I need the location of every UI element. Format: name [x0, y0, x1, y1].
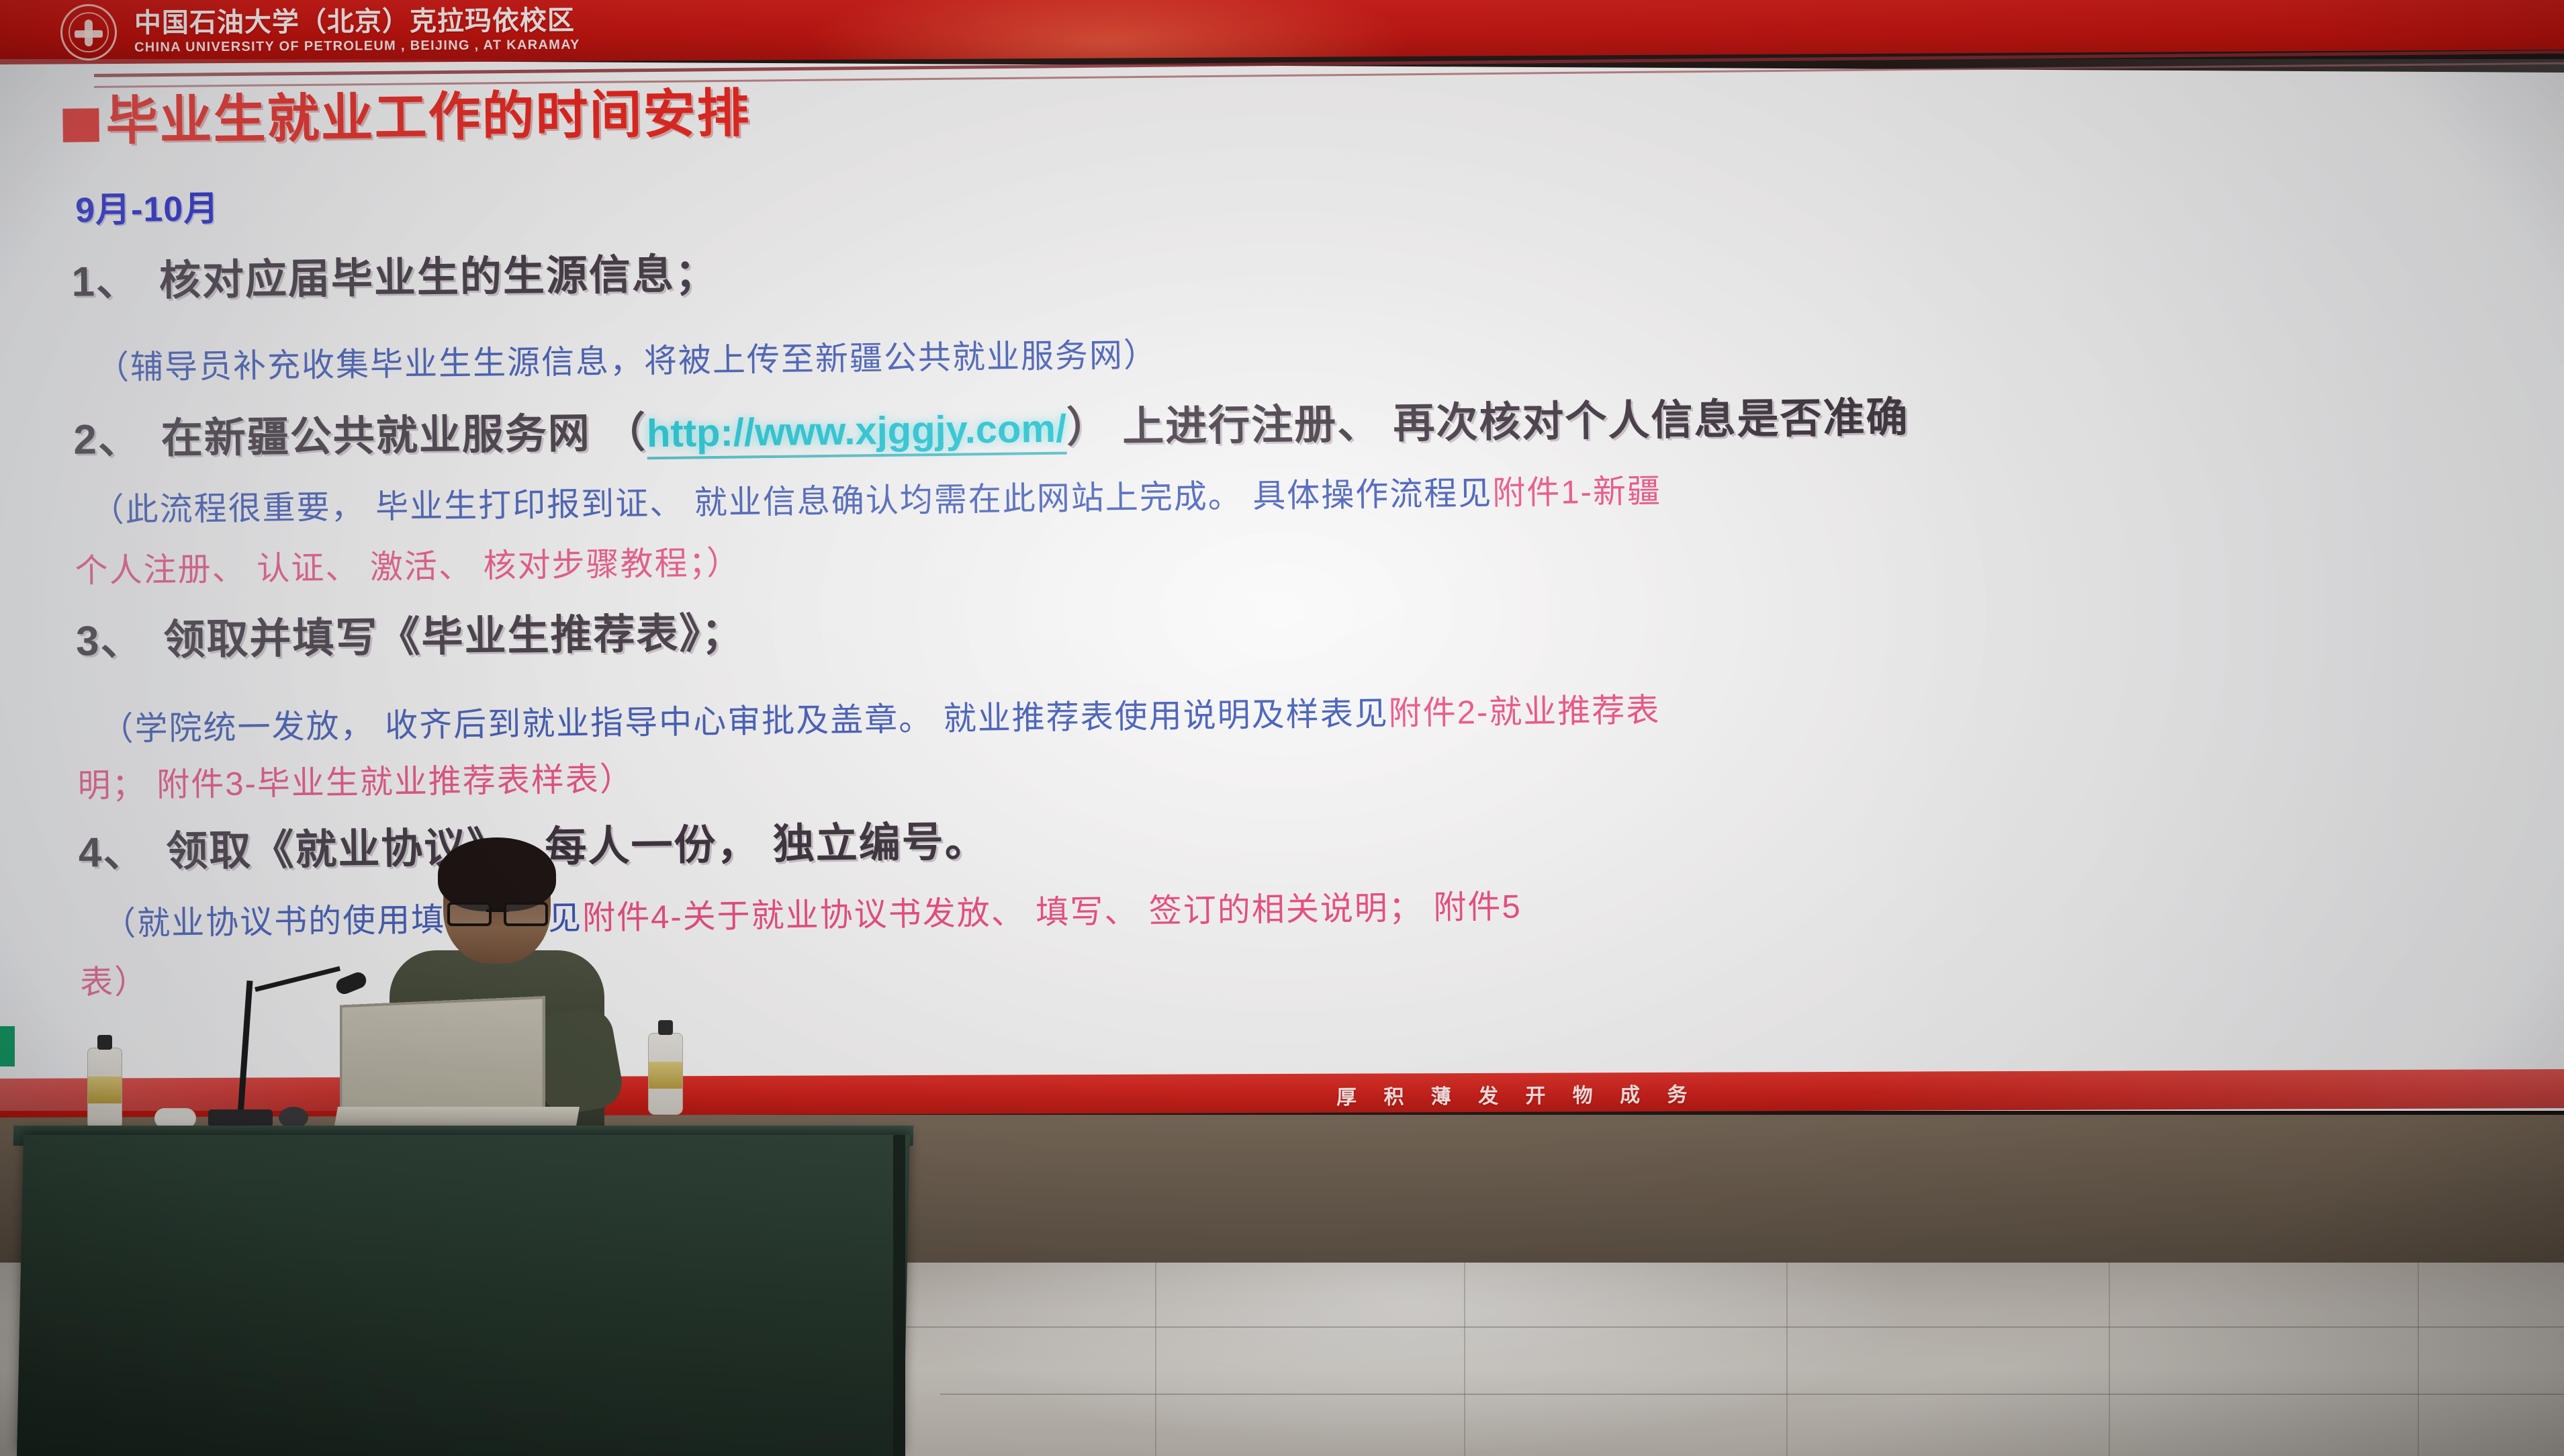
floor-tile-line: [1786, 1263, 1788, 1456]
item-3-text: 领取并填写《毕业生推荐表》；: [163, 610, 745, 664]
laptop-screen: [340, 996, 545, 1118]
bullet-square-icon: [62, 108, 99, 142]
slide-item-3: 3、领取并填写《毕业生推荐表》；: [75, 599, 745, 668]
slide-item-3-note-line-2: 明； 附件3-毕业生就业推荐表样表）: [77, 753, 634, 807]
floor-tile-line: [940, 1394, 2564, 1395]
slide-subhead: 9月-10月: [75, 180, 220, 232]
slide-item-1: 1、核对应届毕业生的生源信息；: [71, 240, 719, 308]
mobile-phone: [208, 1109, 273, 1127]
note-blue-segment: （此流程很重要， 毕业生打印报到证、 就业信息确认均需在此网站上完成。 具体操作…: [91, 475, 1492, 529]
slide-item-4-note-line-2: 表）: [80, 955, 149, 1003]
note-blue-segment: （学院统一发放， 收齐后到就业指导中心审批及盖章。 就业推荐表使用说明及样表见: [100, 696, 1389, 747]
photo-scene: 中国石油大学（北京）克拉玛依校区 CHINA UNIVERSITY OF PET…: [0, 0, 2564, 1456]
floor-tile-line: [2109, 1263, 2110, 1456]
item-2-text-before-url: 在新疆公共就业服务网 （: [161, 410, 647, 462]
desk-side-panel: [893, 1135, 905, 1456]
floor-tile-line: [2418, 1263, 2419, 1456]
slide-title: 毕业生就业工作的时间安排: [62, 71, 751, 155]
presenter-hair: [438, 837, 556, 911]
slide-item-2-note-line-1: （此流程很重要， 毕业生打印报到证、 就业信息确认均需在此网站上完成。 具体操作…: [91, 465, 1661, 532]
item-2-number: 2、: [73, 416, 141, 463]
item-1-text: 核对应届毕业生的生源信息；: [159, 251, 719, 304]
floor-tile-line: [1155, 1263, 1156, 1456]
floor-light-glow: [907, 1263, 1914, 1456]
item-4-number: 4、: [78, 829, 146, 876]
slide-item-2-note-line-2: 个人注册、 认证、 激活、 核对步骤教程；）: [75, 537, 741, 592]
slide-title-text: 毕业生就业工作的时间安排: [105, 83, 751, 150]
xjggjy-link[interactable]: http://www.xjggjy.com/: [647, 407, 1067, 460]
water-bottle: [648, 1033, 683, 1115]
presenter-desk: [17, 1135, 910, 1456]
eyeglasses-icon: [447, 902, 548, 922]
slide-item-3-note-line-1: （学院统一发放， 收齐后到就业指导中心审批及盖章。 就业推荐表使用说明及样表见附…: [100, 684, 1661, 750]
item-3-number: 3、: [76, 617, 144, 664]
item-2-text-after-url: ） 上进行注册、 再次核对个人信息是否准确: [1066, 394, 1909, 451]
wall-green-strip: [0, 1026, 15, 1066]
note-pink-segment: 附件1-新疆: [1492, 473, 1661, 512]
slide-item-4-note-line-1: （就业协议书的使用填写说明见附件4-关于就业协议书发放、 填写、 签订的相关说明…: [103, 880, 1522, 945]
note-pink-segment: 附件2-就业推荐表: [1388, 692, 1660, 732]
slide-item-1-note: （辅导员补充收集毕业生生源信息，将被上传至新疆公共就业服务网）: [96, 328, 1158, 389]
university-motto: 厚 积 薄 发 开 物 成 务: [1336, 1078, 1698, 1110]
floor-tile-line: [1464, 1263, 1465, 1456]
slide-item-2: 2、在新疆公共就业服务网 （http://www.xjggjy.com/） 上进…: [73, 383, 1909, 465]
note-pink-segment: 附件4-关于就业协议书发放、 填写、 签订的相关说明； 附件5: [582, 889, 1522, 936]
water-bottle: [87, 1048, 122, 1130]
item-1-number: 1、: [71, 258, 139, 305]
